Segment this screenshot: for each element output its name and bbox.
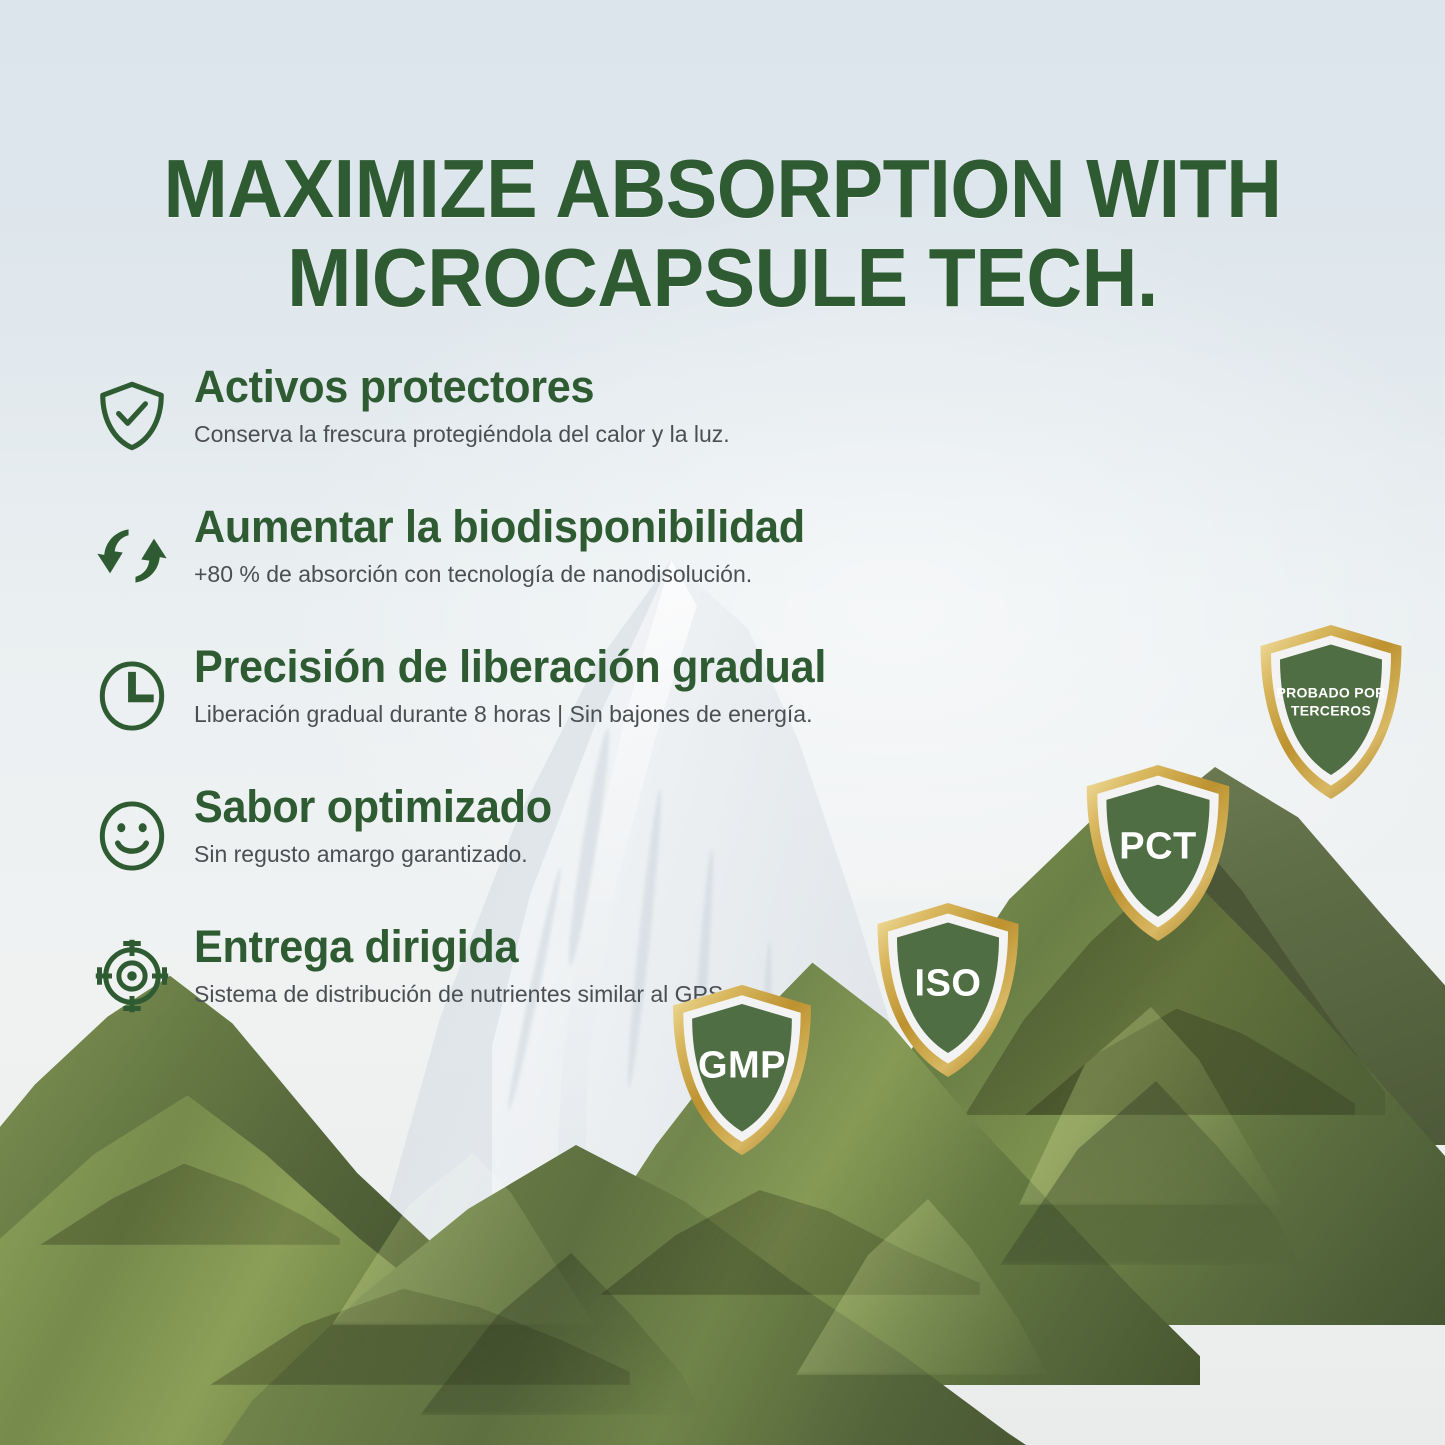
certification-badge-gmp: GMP	[668, 982, 816, 1158]
refresh-arrows-icon	[82, 500, 182, 606]
clock-icon	[82, 640, 182, 746]
feature-title: Entrega dirigida	[194, 924, 708, 969]
feature-subtitle: Sin regusto amargo garantizado.	[194, 841, 567, 869]
feature-title: Sabor optimizado	[194, 784, 552, 829]
feature-text-block: Entrega dirigida Sistema de distribución…	[182, 920, 730, 1009]
headline-line-1: MAXIMIZE ABSORPTION WITH	[163, 142, 1281, 235]
crosshair-target-icon	[82, 920, 182, 1026]
feature-title: Aumentar la biodisponibilidad	[194, 504, 805, 549]
shield-badge-icon	[872, 900, 1024, 1080]
feature-item-timed-release: Precisión de liberación gradual Liberaci…	[82, 640, 1032, 780]
shield-badge-icon	[668, 982, 816, 1158]
feature-item-optimized-taste: Sabor optimizado Sin regusto amargo gara…	[82, 780, 1032, 920]
feature-text-block: Aumentar la biodisponibilidad +80 % de a…	[182, 500, 830, 589]
certification-badge-iso: ISO	[872, 900, 1024, 1080]
feature-text-block: Precisión de liberación gradual Liberaci…	[182, 640, 852, 729]
feature-subtitle: Sistema de distribución de nutrientes si…	[194, 981, 730, 1009]
feature-subtitle: Liberación gradual durante 8 horas | Sin…	[194, 701, 852, 729]
feature-subtitle: Conserva la frescura protegiéndola del c…	[194, 421, 730, 449]
headline-line-2: MICROCAPSULE TECH.	[287, 231, 1158, 324]
page-title: MAXIMIZE ABSORPTION WITH MICROCAPSULE TE…	[51, 144, 1395, 323]
smiley-face-icon	[82, 780, 182, 886]
feature-item-protective-actives: Activos protectores Conserva la frescura…	[82, 360, 1032, 500]
shield-check-icon	[82, 360, 182, 466]
feature-title: Precisión de liberación gradual	[194, 644, 826, 689]
shield-badge-icon	[1082, 762, 1234, 944]
feature-text-block: Activos protectores Conserva la frescura…	[182, 360, 730, 449]
certification-badge-pct: PCT	[1082, 762, 1234, 944]
feature-title: Activos protectores	[194, 364, 708, 409]
product-infographic: MAXIMIZE ABSORPTION WITH MICROCAPSULE TE…	[0, 0, 1445, 1445]
feature-text-block: Sabor optimizado Sin regusto amargo gara…	[182, 780, 567, 869]
shield-badge-icon	[1256, 622, 1406, 802]
certification-badge-third-party-tested: PROBADO POR TERCEROS	[1256, 622, 1406, 802]
feature-item-bioavailability: Aumentar la biodisponibilidad +80 % de a…	[82, 500, 1032, 640]
feature-subtitle: +80 % de absorción con tecnología de nan…	[194, 561, 830, 589]
